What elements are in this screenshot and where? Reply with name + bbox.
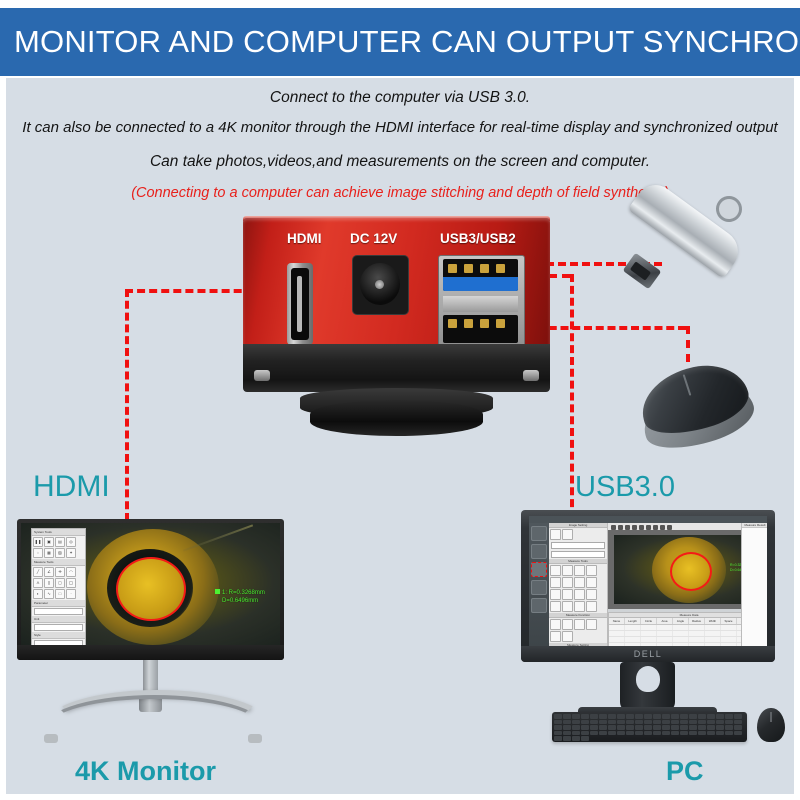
tool-point-icon[interactable]	[550, 577, 561, 588]
toolbar-close-icon[interactable]	[667, 525, 672, 530]
tool-ellipse-icon[interactable]	[562, 589, 573, 600]
measure-tools-buttons[interactable]	[549, 564, 607, 613]
toolbar-refresh-icon[interactable]	[632, 525, 637, 530]
image-slider-row-2[interactable]	[549, 550, 607, 559]
keyboard-key[interactable]	[689, 731, 697, 736]
crop-icon[interactable]: ▨	[55, 548, 65, 558]
table-column-header: Area	[657, 618, 673, 624]
tool-square-icon[interactable]	[574, 577, 585, 588]
keyboard-key[interactable]	[698, 720, 706, 725]
ellipse-tool-icon[interactable]: ◐	[33, 589, 43, 599]
usb-drive-keyring-hole	[711, 191, 747, 227]
dell-brand-logo: DELL	[521, 646, 775, 662]
freehand-tool-icon[interactable]: ∿	[44, 589, 54, 599]
function-export-icon[interactable]	[550, 619, 561, 630]
keyboard-key[interactable]	[653, 731, 661, 736]
usb3-blue-insert	[443, 277, 518, 291]
specimen-measure-circle	[116, 557, 186, 621]
star-icon[interactable]: ✦	[66, 548, 76, 558]
image-slider-row-1[interactable]	[549, 541, 607, 550]
usb-pc-connector-vertical	[570, 274, 574, 519]
keyboard-key[interactable]	[734, 714, 742, 719]
grid-icon[interactable]: ▦	[44, 548, 54, 558]
tool-ring-icon[interactable]	[586, 589, 597, 600]
table-column-header: Width	[705, 618, 721, 624]
tool-freehand-icon[interactable]	[574, 601, 585, 612]
pc-mouse[interactable]	[757, 708, 785, 742]
sidebar-icon-report[interactable]	[531, 580, 547, 595]
usb-flash-drive	[620, 186, 752, 298]
keyboard-key[interactable]	[581, 725, 589, 730]
specimen-crack	[183, 524, 253, 551]
unit-row[interactable]	[32, 623, 85, 632]
parameter-input-1[interactable]	[34, 608, 83, 615]
keyboard-key[interactable]	[617, 725, 625, 730]
keyboard-key[interactable]	[635, 725, 643, 730]
monitor-4k-chin	[17, 645, 284, 660]
dc-power-pin	[375, 280, 384, 289]
parameter-row-1[interactable]	[32, 607, 85, 616]
function-undo-icon[interactable]	[550, 631, 561, 642]
keyboard-key[interactable]	[680, 725, 688, 730]
keyboard-key[interactable]	[590, 731, 598, 736]
pc-stand-cable-hole	[636, 666, 660, 692]
unit-input[interactable]	[34, 624, 83, 631]
keyboard-key[interactable]	[599, 725, 607, 730]
toolbar-record-icon[interactable]	[625, 525, 630, 530]
keyboard-key[interactable]	[644, 714, 652, 719]
dot-tool-icon[interactable]: ·	[66, 589, 76, 599]
keyboard-key[interactable]	[716, 714, 724, 719]
tool-grid-icon[interactable]	[550, 589, 561, 600]
keyboard-key[interactable]	[608, 720, 616, 725]
keyboard-key[interactable]	[698, 725, 706, 730]
toolbar-zoom-out-icon[interactable]	[646, 525, 651, 530]
keyboard-key[interactable]	[590, 720, 598, 725]
toolbar-fit-icon[interactable]	[653, 525, 658, 530]
tool-diamond-icon[interactable]	[562, 577, 573, 588]
description-line-1: Connect to the computer via USB 3.0.	[270, 89, 530, 107]
keyboard-key[interactable]	[689, 714, 697, 719]
camera-base	[243, 344, 550, 392]
keyboard-key[interactable]	[725, 725, 733, 730]
keyboard-key[interactable]	[554, 731, 562, 736]
keyboard-key[interactable]	[707, 720, 715, 725]
keyboard-key[interactable]	[698, 714, 706, 719]
keyboard-key[interactable]	[581, 731, 589, 736]
keyboard-key[interactable]	[644, 720, 652, 725]
infographic-root: MONITOR AND COMPUTER CAN OUTPUT SYNCHRON…	[0, 0, 800, 800]
monitor-measurement-overlay: 1: R=0.3268mm D=0.6496mm	[215, 589, 265, 605]
polyline-tool-icon[interactable]: Ʌ	[33, 578, 43, 588]
panel-section-system-tools: System Tools	[32, 529, 85, 536]
keyboard-key[interactable]	[590, 725, 598, 730]
monitor-software-panel: System Tools ❚❚ ▣ ▤ ◎ ◌ ▦ ▨ ✦ Measure To…	[31, 528, 86, 647]
measurement-diameter-text: D=0.6496mm	[222, 598, 258, 604]
table-column-header: Radius	[689, 618, 705, 624]
keyboard-key[interactable]	[680, 714, 688, 719]
keyboard-key[interactable]	[662, 725, 670, 730]
tool-arc-icon[interactable]	[574, 565, 585, 576]
keyboard-key[interactable]	[725, 731, 733, 736]
image-setting-buttons[interactable]	[549, 528, 607, 541]
keyboard-key[interactable]	[572, 720, 580, 725]
video-icon[interactable]: ▤	[55, 537, 65, 547]
keyboard-key[interactable]	[563, 731, 571, 736]
table-column-header: Space	[721, 618, 737, 624]
table-column-header: Circle	[641, 618, 657, 624]
keyboard-key[interactable]	[617, 720, 625, 725]
pc-tools-panel: Image Setting Measure Tools	[549, 523, 608, 646]
keyboard-key[interactable]	[563, 736, 571, 741]
keyboard-key[interactable]	[689, 720, 697, 725]
measurement-marker-icon	[215, 589, 220, 594]
keyboard-key[interactable]	[626, 731, 634, 736]
image-capture-icon[interactable]	[562, 529, 573, 540]
hdmi-port-label: HDMI	[287, 231, 322, 246]
keyboard-key[interactable]	[698, 731, 706, 736]
usb-mouse-device	[636, 356, 762, 452]
monitor-4k-stand-arc-shadow	[46, 695, 263, 757]
keyboard-key[interactable]	[563, 720, 571, 725]
usb3-pins	[448, 264, 510, 273]
keyboard-key[interactable]	[563, 725, 571, 730]
keyboard-key[interactable]	[689, 725, 697, 730]
keyboard-key[interactable]	[734, 731, 742, 736]
table-column-header: Name	[609, 618, 625, 624]
settings-icon[interactable]: ◎	[66, 537, 76, 547]
circle-tool-icon[interactable]: ◯	[66, 578, 76, 588]
pc-keyboard[interactable]	[552, 712, 747, 742]
line-tool-icon[interactable]: ╱	[33, 567, 43, 577]
measure-function-buttons[interactable]	[549, 618, 607, 643]
camera-icon[interactable]: ▣	[44, 537, 54, 547]
table-column-header: Angle	[673, 618, 689, 624]
dc-port-label: DC 12V	[350, 231, 397, 246]
label-usb30: USB3.0	[575, 471, 675, 504]
keyboard-key[interactable]	[581, 720, 589, 725]
table-column-header: Length	[625, 618, 641, 624]
keyboard-key[interactable]	[644, 725, 652, 730]
keyboard-key[interactable]	[608, 714, 616, 719]
tool-text-icon[interactable]	[586, 601, 597, 612]
keyboard-key[interactable]	[572, 725, 580, 730]
sidebar-icon-measure-selected[interactable]	[531, 562, 547, 577]
pause-icon[interactable]: ❚❚	[33, 537, 43, 547]
stand-foot-right	[248, 734, 262, 743]
keyboard-key[interactable]	[608, 725, 616, 730]
keyboard-key[interactable]	[626, 725, 634, 730]
camera-screw-left	[254, 370, 270, 381]
brightness-slider[interactable]	[551, 542, 605, 549]
tool-cross-icon[interactable]	[562, 601, 573, 612]
pc-specimen-measure-circle	[670, 552, 712, 591]
panel-section-unit: Unit	[32, 616, 85, 623]
keyboard-key[interactable]	[599, 731, 607, 736]
keyboard-key[interactable]	[725, 714, 733, 719]
page-title: MONITOR AND COMPUTER CAN OUTPUT SYNCHRON…	[14, 24, 800, 60]
usb-port-label: USB3/USB2	[440, 231, 516, 246]
keyboard-key[interactable]	[599, 720, 607, 725]
function-delete-icon[interactable]	[562, 619, 573, 630]
pc-software-sidebar[interactable]	[529, 523, 549, 646]
pc-mouse-button-split	[770, 712, 772, 722]
keyboard-key[interactable]	[716, 725, 724, 730]
pc-measure-result-panel: Measure Result	[741, 523, 767, 646]
tool-polyline-icon[interactable]	[586, 565, 597, 576]
contrast-slider[interactable]	[551, 551, 605, 558]
parallel-tool-icon[interactable]: ∥	[44, 578, 54, 588]
keyboard-key[interactable]	[653, 725, 661, 730]
usb3-port	[443, 259, 518, 291]
zoom-icon[interactable]: ◌	[33, 548, 43, 558]
function-arrow-icon[interactable]	[562, 631, 573, 642]
panel-section-measure-tools: Measure Tools	[32, 559, 85, 566]
pc-image-canvas[interactable]: R=0.3268mm D=0.6496mm	[614, 535, 762, 604]
usb2-pins	[448, 319, 510, 328]
keyboard-key[interactable]	[635, 714, 643, 719]
pc-monitor-chin: DELL	[521, 646, 775, 662]
tool-angle-icon[interactable]	[562, 565, 573, 576]
measurement-radius-text: 1: R=0.3268mm	[222, 590, 265, 596]
keyboard-key[interactable]	[662, 720, 670, 725]
angle-tool-icon[interactable]: ∠	[44, 567, 54, 577]
description-line-4-note: (Connecting to a computer can achieve im…	[131, 185, 669, 201]
keyboard-key[interactable]	[590, 714, 598, 719]
keyboard-key[interactable]	[635, 731, 643, 736]
pc-software-titlebar	[529, 516, 767, 523]
keyboard-key[interactable]	[716, 731, 724, 736]
label-4k-monitor: 4K Monitor	[75, 756, 216, 787]
keyboard-key[interactable]	[617, 731, 625, 736]
keyboard-key[interactable]	[671, 714, 679, 719]
keyboard-key[interactable]	[707, 714, 715, 719]
label-pc: PC	[666, 756, 704, 787]
function-save-icon[interactable]	[574, 619, 585, 630]
keyboard-key[interactable]	[662, 731, 670, 736]
toolbar-grid-icon[interactable]	[660, 525, 665, 530]
keyboard-key[interactable]	[671, 720, 679, 725]
rect-tool-icon[interactable]: ▢	[55, 578, 65, 588]
usb-port-divider	[443, 296, 518, 312]
sidebar-icon-image[interactable]	[531, 544, 547, 559]
keyboard-key[interactable]	[554, 725, 562, 730]
panel-section-parameter: Parameter	[32, 600, 85, 607]
keyboard-key[interactable]	[554, 720, 562, 725]
description-line-3: Can take photos,videos,and measurements …	[150, 153, 650, 171]
keyboard-key[interactable]	[716, 720, 724, 725]
keyboard-key[interactable]	[734, 725, 742, 730]
image-mode-icon[interactable]	[550, 529, 561, 540]
keyboard-key[interactable]	[554, 714, 562, 719]
keyboard-key[interactable]	[581, 736, 589, 741]
keyboard-key[interactable]	[617, 714, 625, 719]
toolbar-zoom-in-icon[interactable]	[639, 525, 644, 530]
pc-monitor-screen: Image Setting Measure Tools	[529, 516, 767, 646]
keyboard-key[interactable]	[707, 731, 715, 736]
camera-screw-right	[523, 370, 539, 381]
keyboard-key[interactable]	[734, 720, 742, 725]
toolbar-snapshot-icon[interactable]	[618, 525, 623, 530]
keyboard-key[interactable]	[581, 714, 589, 719]
tool-line-icon[interactable]	[550, 565, 561, 576]
keyboard-key[interactable]	[563, 714, 571, 719]
keyboard-key[interactable]	[671, 731, 679, 736]
camera-lens-ring-inner	[310, 400, 483, 436]
keyboard-key[interactable]	[662, 714, 670, 719]
panel-section-style: Style	[32, 632, 85, 639]
square-tool-icon[interactable]: □	[55, 589, 65, 599]
keyboard-key[interactable]	[608, 731, 616, 736]
function-calibrate-icon[interactable]	[586, 619, 597, 630]
keyboard-keys	[554, 714, 745, 737]
keyboard-key[interactable]	[644, 731, 652, 736]
sidebar-icon-camera[interactable]	[531, 526, 547, 541]
sidebar-icon-settings[interactable]	[531, 598, 547, 613]
keyboard-key[interactable]	[635, 720, 643, 725]
system-tools-grid[interactable]: ❚❚ ▣ ▤ ◎ ◌ ▦ ▨ ✦	[32, 536, 85, 559]
hdmi-connector-vertical	[125, 289, 129, 521]
keyboard-key[interactable]	[680, 720, 688, 725]
hdmi-port-slot	[297, 276, 302, 332]
result-panel-header: Measure Result	[742, 523, 767, 528]
keyboard-key[interactable]	[671, 725, 679, 730]
keyboard-key[interactable]	[572, 736, 580, 741]
keyboard-key[interactable]	[680, 731, 688, 736]
label-hdmi: HDMI	[33, 470, 110, 504]
point-tool-icon[interactable]: ✛	[55, 567, 65, 577]
tool-rect-icon[interactable]	[586, 577, 597, 588]
keyboard-key[interactable]	[572, 714, 580, 719]
keyboard-key[interactable]	[653, 720, 661, 725]
keyboard-key[interactable]	[626, 720, 634, 725]
keyboard-key[interactable]	[554, 736, 562, 741]
keyboard-key[interactable]	[626, 714, 634, 719]
header-banner: MONITOR AND COMPUTER CAN OUTPUT SYNCHRON…	[0, 8, 800, 76]
keyboard-key[interactable]	[572, 731, 580, 736]
tool-dot-icon[interactable]	[550, 601, 561, 612]
measure-tools-grid[interactable]: ╱ ∠ ✛ ◠ Ʌ ∥ ▢ ◯ ◐ ∿ □ ·	[32, 566, 85, 600]
tool-circle-icon[interactable]	[574, 589, 585, 600]
keyboard-key[interactable]	[707, 725, 715, 730]
description-line-2: It can also be connected to a 4K monitor…	[22, 119, 777, 136]
keyboard-key[interactable]	[653, 714, 661, 719]
keyboard-key[interactable]	[599, 714, 607, 719]
arc-tool-icon[interactable]: ◠	[66, 567, 76, 577]
toolbar-pause-icon[interactable]	[611, 525, 616, 530]
stand-foot-left	[44, 734, 58, 743]
keyboard-key[interactable]	[725, 720, 733, 725]
